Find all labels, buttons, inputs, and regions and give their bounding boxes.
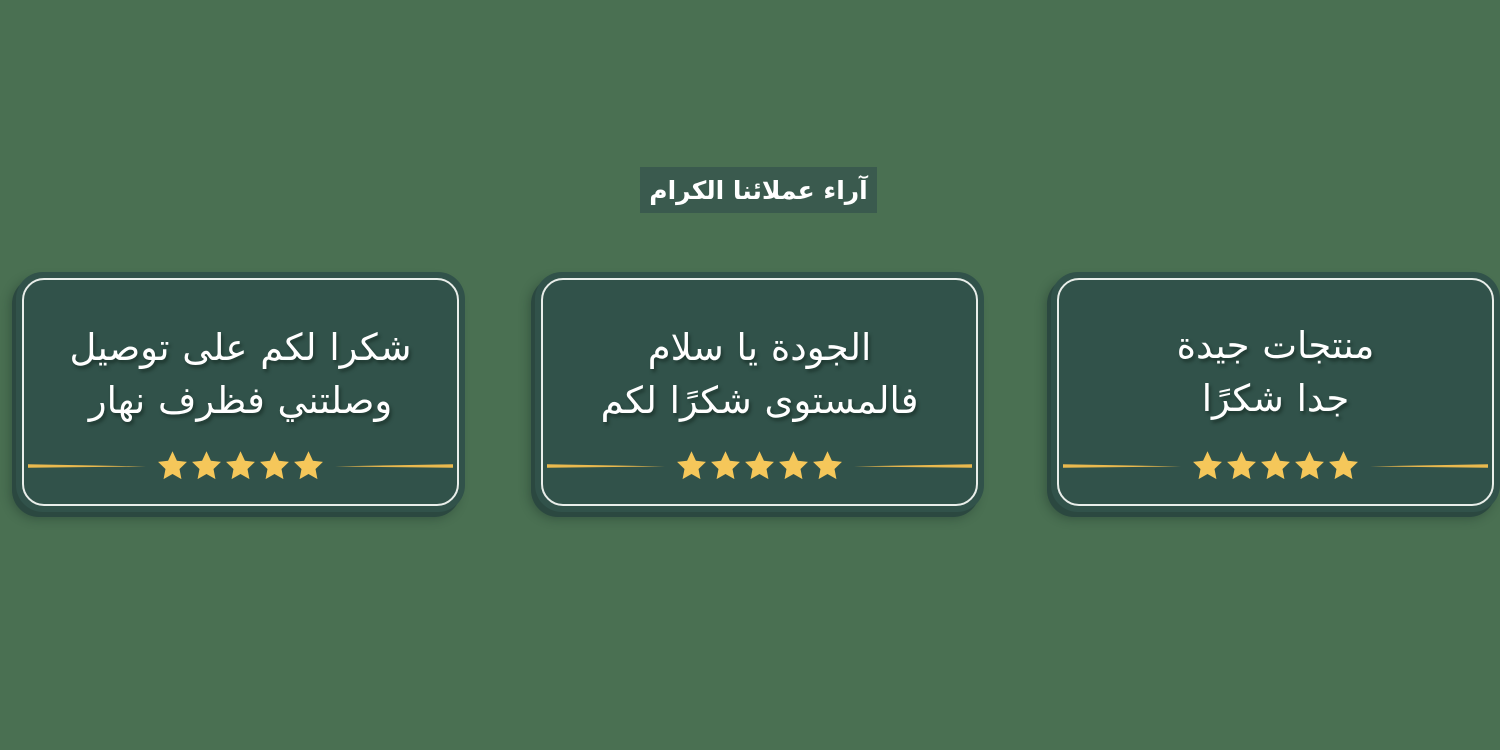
star-icon — [190, 449, 223, 482]
testimonial-text-line: جدا شكرًا — [1076, 373, 1474, 426]
star-rating — [675, 449, 844, 482]
testimonial-card[interactable]: شكرا لكم على توصيل وصلتني فظرف نهار — [16, 272, 465, 512]
star-icon — [709, 449, 742, 482]
star-icon — [675, 449, 708, 482]
star-icon — [1191, 449, 1224, 482]
testimonial-card-list: شكرا لكم على توصيل وصلتني فظرف نهار — [0, 272, 1500, 522]
star-icon — [811, 449, 844, 482]
star-icon — [743, 449, 776, 482]
testimonial-text: منتجات جيدة جدا شكرًا — [1076, 320, 1474, 425]
star-icon — [224, 449, 257, 482]
testimonial-card-inner: منتجات جيدة جدا شكرًا — [1057, 278, 1494, 506]
star-icon — [1293, 449, 1326, 482]
rating-row — [1059, 449, 1492, 482]
testimonial-card[interactable]: منتجات جيدة جدا شكرًا — [1051, 272, 1500, 512]
tapered-divider-icon — [1063, 459, 1181, 473]
tapered-divider-icon — [28, 459, 146, 473]
star-icon — [258, 449, 291, 482]
star-icon — [777, 449, 810, 482]
rating-row — [24, 449, 457, 482]
star-rating — [1191, 449, 1360, 482]
tapered-divider-icon — [335, 459, 453, 473]
testimonial-text-line: منتجات جيدة — [1076, 320, 1474, 373]
testimonial-card-inner: الجودة يا سلام فالمستوى شكرًا لكم — [541, 278, 978, 506]
tapered-divider-icon — [547, 459, 665, 473]
testimonial-text: الجودة يا سلام فالمستوى شكرًا لكم — [560, 322, 958, 427]
rating-row — [543, 449, 976, 482]
star-icon — [1259, 449, 1292, 482]
testimonial-text-line: الجودة يا سلام — [560, 322, 958, 375]
tapered-divider-icon — [1370, 459, 1488, 473]
testimonial-card-inner: شكرا لكم على توصيل وصلتني فظرف نهار — [22, 278, 459, 506]
page-title: آراء عملائنا الكرام — [649, 178, 867, 203]
tapered-divider-icon — [854, 459, 972, 473]
star-icon — [1327, 449, 1360, 482]
star-icon — [292, 449, 325, 482]
testimonial-text-line: وصلتني فظرف نهار — [41, 375, 439, 428]
testimonial-card[interactable]: الجودة يا سلام فالمستوى شكرًا لكم — [535, 272, 984, 512]
section-title-badge: آراء عملائنا الكرام — [640, 167, 877, 213]
star-icon — [156, 449, 189, 482]
testimonial-text: شكرا لكم على توصيل وصلتني فظرف نهار — [41, 322, 439, 427]
testimonial-text-line: فالمستوى شكرًا لكم — [560, 375, 958, 428]
star-rating — [156, 449, 325, 482]
testimonials-section: آراء عملائنا الكرام شكرا لكم على توصيل و… — [0, 0, 1500, 750]
star-icon — [1225, 449, 1258, 482]
testimonial-text-line: شكرا لكم على توصيل — [41, 322, 439, 375]
